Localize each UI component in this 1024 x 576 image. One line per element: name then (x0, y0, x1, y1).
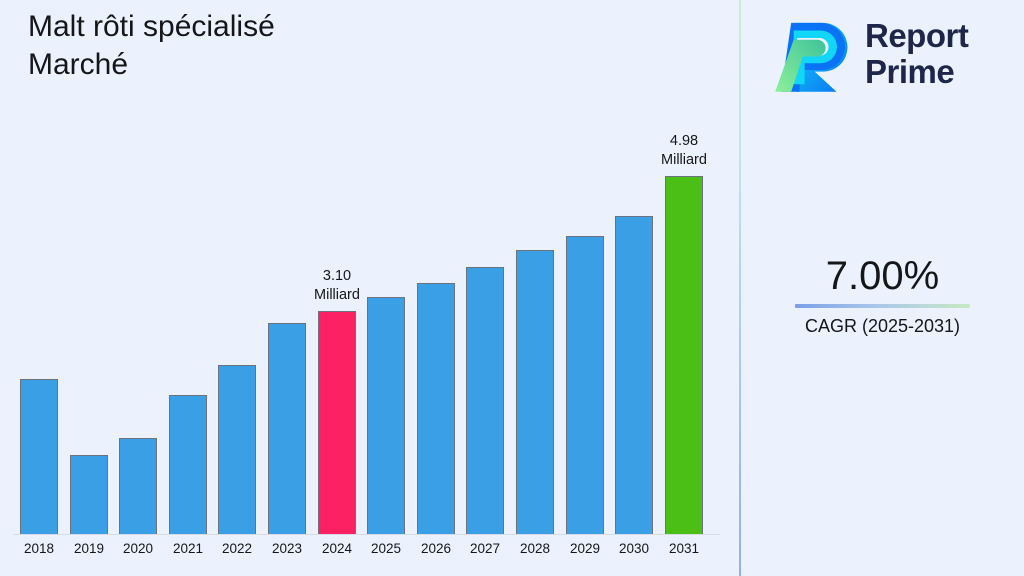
bar-chart: 3.10 Milliard4.98 Milliard 2018201920202… (0, 0, 740, 576)
bar-2025 (367, 297, 405, 534)
x-tick-2031: 2031 (654, 540, 714, 558)
bar-2027 (466, 267, 504, 534)
cagr-caption: CAGR (2025-2031) (741, 314, 1024, 338)
cagr-value: 7.00% (741, 252, 1024, 300)
infographic-root: Malt rôti spécialisé Marché 3.10 Milliar… (0, 0, 1024, 576)
bar-2028 (516, 250, 554, 534)
bar-label-2031: 4.98 Milliard (639, 132, 729, 170)
bar-2020 (119, 438, 157, 534)
summary-panel: Report Prime 7.00% CAGR (2025-2031) (741, 0, 1024, 576)
x-axis-line (14, 534, 720, 535)
cagr-divider (795, 304, 970, 308)
bar-2021 (169, 395, 207, 534)
cagr-block: 7.00% CAGR (2025-2031) (741, 252, 1024, 338)
bar-2026 (417, 283, 455, 534)
bar-2018 (20, 379, 58, 534)
bar-2031 (665, 176, 703, 534)
bar-2019 (70, 455, 108, 534)
bar-2022 (218, 365, 256, 534)
bar-2030 (615, 216, 653, 534)
bar-2029 (566, 236, 604, 534)
chart-panel: Malt rôti spécialisé Marché 3.10 Milliar… (0, 0, 740, 576)
logo-wordmark: Report Prime (865, 18, 968, 90)
bar-2024 (318, 311, 356, 534)
bar-label-2024: 3.10 Milliard (292, 267, 382, 305)
bar-2023 (268, 323, 306, 534)
report-prime-logo: Report Prime (771, 8, 1016, 100)
logo-mark-icon (771, 12, 855, 96)
